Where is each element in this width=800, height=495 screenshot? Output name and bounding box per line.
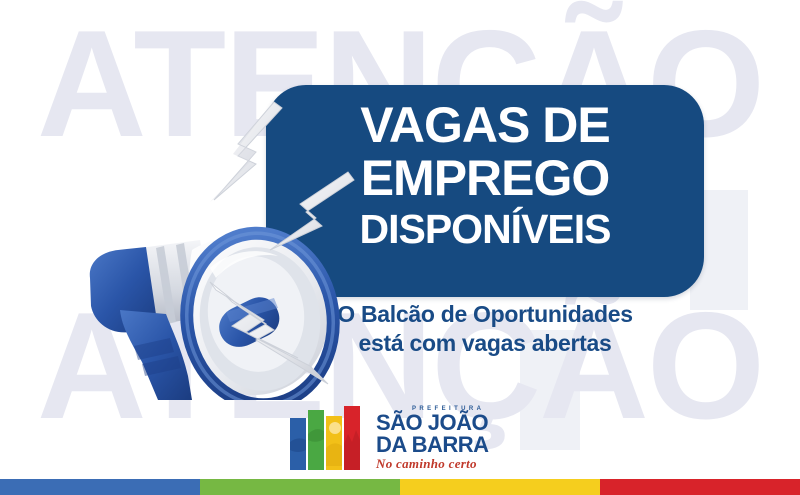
- logo-city-line-2: DA BARRA: [376, 434, 521, 456]
- megaphone-icon: [60, 100, 370, 400]
- colorbar-segment-red: [600, 479, 800, 495]
- logo-flag-panels: [288, 404, 368, 472]
- bottom-color-bar: [0, 479, 800, 495]
- logo-slogan: No caminho certo: [376, 456, 521, 472]
- job-vacancy-poster: ATENÇÃO ATENÇÃO VAGAS DE EMPREGO DISPONÍ…: [0, 0, 800, 495]
- logo-city-line-1: SÃO JOÃO: [376, 412, 521, 434]
- prefecture-logo: PREFEITURA SÃO JOÃO DA BARRA No caminho …: [288, 404, 518, 474]
- colorbar-segment-blue: [0, 479, 200, 495]
- logo-text-block: PREFEITURA SÃO JOÃO DA BARRA No caminho …: [376, 406, 521, 472]
- colorbar-segment-green: [200, 479, 400, 495]
- colorbar-segment-yellow: [400, 479, 600, 495]
